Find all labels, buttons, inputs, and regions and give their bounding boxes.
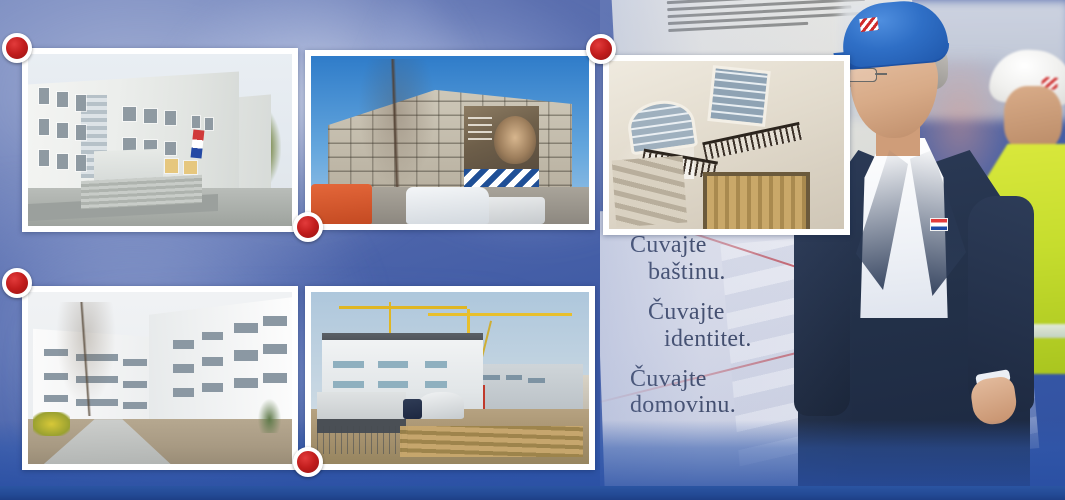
photo-construction-cranes	[311, 292, 589, 464]
pin-marker-5[interactable]	[293, 447, 323, 477]
pin-marker-2[interactable]	[293, 212, 323, 242]
background-bottom-strip	[0, 486, 1065, 500]
photo-interior-stairwell	[609, 61, 844, 229]
pin-marker-4[interactable]	[2, 268, 32, 298]
photo-card-school-courtyard[interactable]	[22, 286, 298, 470]
photo-scaffolded-building	[311, 56, 589, 224]
collage-stage: Čuvajte baštinu. Čuvajte identitet. Čuva…	[0, 0, 1065, 500]
photo-card-scaffolded-building[interactable]	[305, 50, 595, 230]
pin-marker-3[interactable]	[586, 34, 616, 64]
pin-marker-1[interactable]	[2, 33, 32, 63]
photo-school-courtyard	[28, 292, 292, 464]
photo-card-construction-cranes[interactable]	[305, 286, 595, 470]
photo-card-interior-stairwell[interactable]	[603, 55, 850, 235]
photo-school-white-facade	[28, 54, 292, 226]
photo-card-school-white-facade[interactable]	[22, 48, 298, 232]
